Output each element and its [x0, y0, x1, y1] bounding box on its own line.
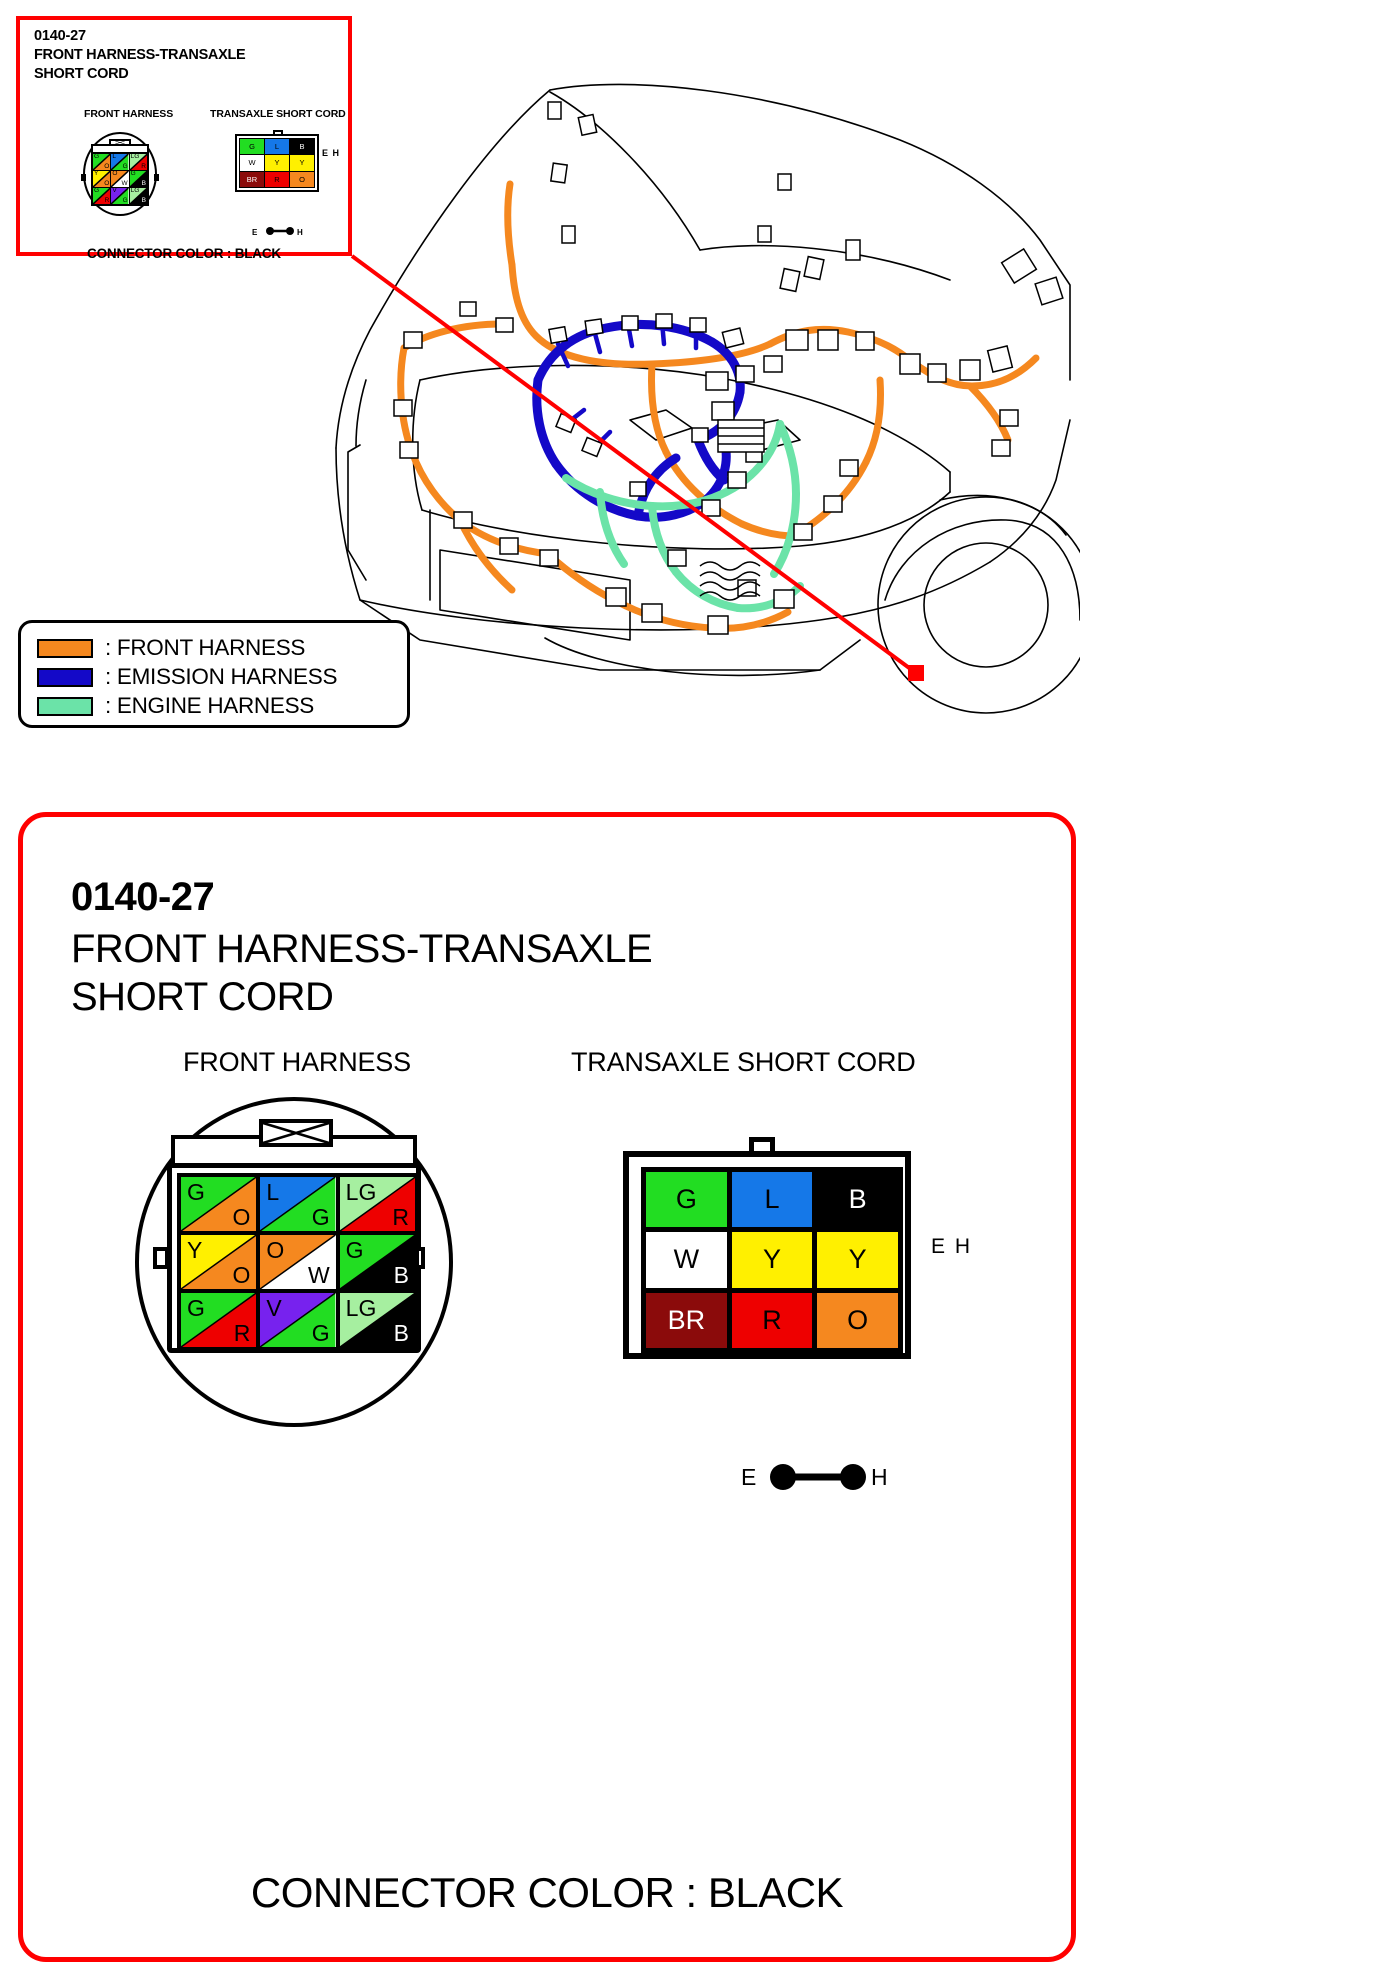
pin-label-upper: O: [112, 171, 117, 178]
transaxle-pin-r1c2: L: [732, 1172, 813, 1227]
svg-text:H: H: [297, 228, 303, 237]
eh-symbol-h-label: H: [871, 1464, 888, 1490]
pin-label-upper: LG: [131, 154, 140, 161]
front-harness-pin-r1c2: LG: [260, 1177, 335, 1231]
legend-swatch-emission-harness: [37, 668, 93, 687]
mini-connector-ear-left: [81, 174, 86, 181]
eh-connector-symbol: E H: [741, 1457, 901, 1497]
front-harness-pin-r3c1: GR: [181, 1293, 256, 1347]
legend-label-emission-harness: : EMISSION HARNESS: [105, 664, 337, 690]
mini-front-harness-pin-grid: GOLGLGRYOOWGBGRVGLGB: [91, 152, 149, 206]
mini-connector-ear-right: [154, 174, 159, 181]
mini-transaxle-pin-grid: GLBWYYBRRO: [239, 138, 315, 188]
pin-label-upper: LG: [346, 1181, 377, 1204]
front-harness-pin-r2c3: GB: [130, 171, 147, 187]
pin-label-upper: V: [112, 188, 116, 195]
transaxle-pin-r2c2: Y: [265, 155, 289, 170]
pin-label-lower: G: [123, 164, 128, 171]
transaxle-pin-r3c2: R: [732, 1293, 813, 1348]
pin-label-upper: Y: [187, 1239, 202, 1262]
pin-label-lower: G: [123, 198, 128, 205]
mini-front-harness-connector: GOLGLGRYOOWGBGRVGLGB: [80, 128, 160, 220]
front-harness-pin-r1c2: LG: [111, 154, 128, 170]
front-harness-pin-r1c1: GO: [181, 1177, 256, 1231]
front-harness-pin-r3c3: LGB: [340, 1293, 415, 1347]
harness-color-legend: : FRONT HARNESS : EMISSION HARNESS : ENG…: [18, 620, 410, 728]
transaxle-pin-r3c3: O: [290, 172, 314, 187]
pin-label-upper: G: [94, 154, 99, 161]
front-harness-pin-r2c2: OW: [260, 1235, 335, 1289]
front-harness-pin-r2c1: YO: [181, 1235, 256, 1289]
front-harness-connector: GOLGLGRYOOWGBGRVGLGB: [131, 1089, 461, 1439]
front-harness-pin-r3c2: VG: [111, 188, 128, 204]
panel-title-line2: SHORT CORD: [71, 975, 333, 1020]
pin-label-lower: R: [234, 1322, 251, 1345]
pin-label-upper: G: [346, 1239, 364, 1262]
transaxle-pin-r2c3: Y: [290, 155, 314, 170]
front-harness-pin-r2c2: OW: [111, 171, 128, 187]
diagram-page: 0140-27 FRONT HARNESS-TRANSAXLE SHORT CO…: [0, 0, 1386, 1980]
svg-text:E: E: [252, 228, 258, 237]
mini-connector-key-tab: [109, 139, 131, 146]
front-harness-key-tab: [259, 1119, 333, 1147]
pin-label-lower: R: [392, 1206, 409, 1229]
legend-label-front-harness: : FRONT HARNESS: [105, 635, 305, 661]
transaxle-pin-r2c3: Y: [817, 1232, 898, 1287]
vehicle-engine-bay-illustration: [300, 80, 1080, 720]
panel-code: 0140-27: [71, 875, 214, 920]
transaxle-pin-r3c1: BR: [240, 172, 264, 187]
transaxle-pin-r2c2: Y: [732, 1232, 813, 1287]
front-harness-pin-r3c2: VG: [260, 1293, 335, 1347]
callout-connector-color: CONNECTOR COLOR : BLACK: [20, 246, 348, 261]
pin-label-lower: W: [308, 1264, 330, 1287]
callout-summary-box: 0140-27 FRONT HARNESS-TRANSAXLE SHORT CO…: [16, 16, 352, 256]
connector-detail-panel: 0140-27 FRONT HARNESS-TRANSAXLE SHORT CO…: [18, 812, 1076, 1962]
callout-subtitle-transaxle: TRANSAXLE SHORT CORD: [210, 108, 346, 120]
front-harness-pin-r1c3: LGR: [130, 154, 147, 170]
pin-label-lower: W: [122, 181, 128, 188]
transaxle-pin-r1c3: B: [290, 139, 314, 154]
pin-label-upper: V: [266, 1297, 281, 1320]
pin-label-lower: G: [312, 1322, 330, 1345]
legend-swatch-front-harness: [37, 639, 93, 658]
pin-label-lower: O: [232, 1264, 250, 1287]
eh-symbol-e-label: E: [741, 1464, 756, 1490]
legend-item-front-harness: : FRONT HARNESS: [37, 635, 305, 661]
pin-label-upper: LG: [131, 188, 140, 195]
front-harness-pin-r3c3: LGB: [130, 188, 147, 204]
transaxle-pin-r2c1: W: [240, 155, 264, 170]
transaxle-pin-r3c3: O: [817, 1293, 898, 1348]
front-harness-pin-r2c1: YO: [93, 171, 110, 187]
pin-label-upper: G: [131, 171, 136, 178]
transaxle-pin-r1c2: L: [265, 139, 289, 154]
panel-subtitle-front-harness: FRONT HARNESS: [183, 1047, 411, 1078]
legend-item-engine-harness: : ENGINE HARNESS: [37, 693, 314, 719]
callout-title-line1: FRONT HARNESS-TRANSAXLE: [34, 47, 245, 63]
pin-label-upper: G: [94, 188, 99, 195]
mini-transaxle-connector: GLBWYYBRRO: [235, 130, 319, 192]
eh-label: E H: [931, 1235, 972, 1259]
transaxle-pin-r1c1: G: [240, 139, 264, 154]
pin-label-lower: B: [394, 1264, 409, 1287]
pin-label-lower: O: [104, 181, 109, 188]
callout-code: 0140-27: [34, 28, 86, 44]
pin-label-lower: B: [394, 1322, 409, 1345]
pin-label-lower: O: [104, 164, 109, 171]
callout-title-line2: SHORT CORD: [34, 66, 128, 82]
pin-label-lower: B: [142, 198, 146, 205]
legend-item-emission-harness: : EMISSION HARNESS: [37, 664, 337, 690]
panel-subtitle-transaxle: TRANSAXLE SHORT CORD: [571, 1047, 916, 1078]
mini-eh-label: E H: [322, 148, 340, 158]
pin-label-upper: O: [266, 1239, 284, 1262]
legend-swatch-engine-harness: [37, 697, 93, 716]
transaxle-pin-r3c2: R: [265, 172, 289, 187]
pin-label-upper: Y: [94, 171, 98, 178]
pin-label-lower: O: [232, 1206, 250, 1229]
pin-label-lower: R: [105, 198, 110, 205]
pin-label-upper: G: [187, 1181, 205, 1204]
pin-label-lower: R: [141, 164, 146, 171]
front-harness-pin-grid: GOLGLGRYOOWGBGRVGLGB: [177, 1173, 419, 1351]
pin-label-upper: L: [112, 154, 116, 161]
transaxle-pin-r1c3: B: [817, 1172, 898, 1227]
front-harness-pin-r1c3: LGR: [340, 1177, 415, 1231]
transaxle-pin-r1c1: G: [646, 1172, 727, 1227]
transaxle-pin-grid: GLBWYYBRRO: [641, 1167, 903, 1353]
callout-subtitle-front-harness: FRONT HARNESS: [84, 108, 173, 120]
pin-label-upper: LG: [346, 1297, 377, 1320]
front-harness-ear-left: [153, 1247, 169, 1269]
mini-eh-connector-symbol: E H: [252, 225, 308, 237]
transaxle-short-cord-connector: GLBWYYBRRO: [623, 1137, 923, 1367]
panel-connector-color: CONNECTOR COLOR : BLACK: [23, 1869, 1071, 1917]
front-harness-pin-r1c1: GO: [93, 154, 110, 170]
pin-label-lower: B: [142, 181, 146, 188]
transaxle-pin-r3c1: BR: [646, 1293, 727, 1348]
transaxle-pin-r2c1: W: [646, 1232, 727, 1287]
pin-label-upper: G: [187, 1297, 205, 1320]
legend-label-engine-harness: : ENGINE HARNESS: [105, 693, 314, 719]
front-harness-pin-r2c3: GB: [340, 1235, 415, 1289]
pin-label-upper: L: [266, 1181, 279, 1204]
pin-label-lower: G: [312, 1206, 330, 1229]
panel-title-line1: FRONT HARNESS-TRANSAXLE: [71, 927, 652, 972]
front-harness-pin-r3c1: GR: [93, 188, 110, 204]
